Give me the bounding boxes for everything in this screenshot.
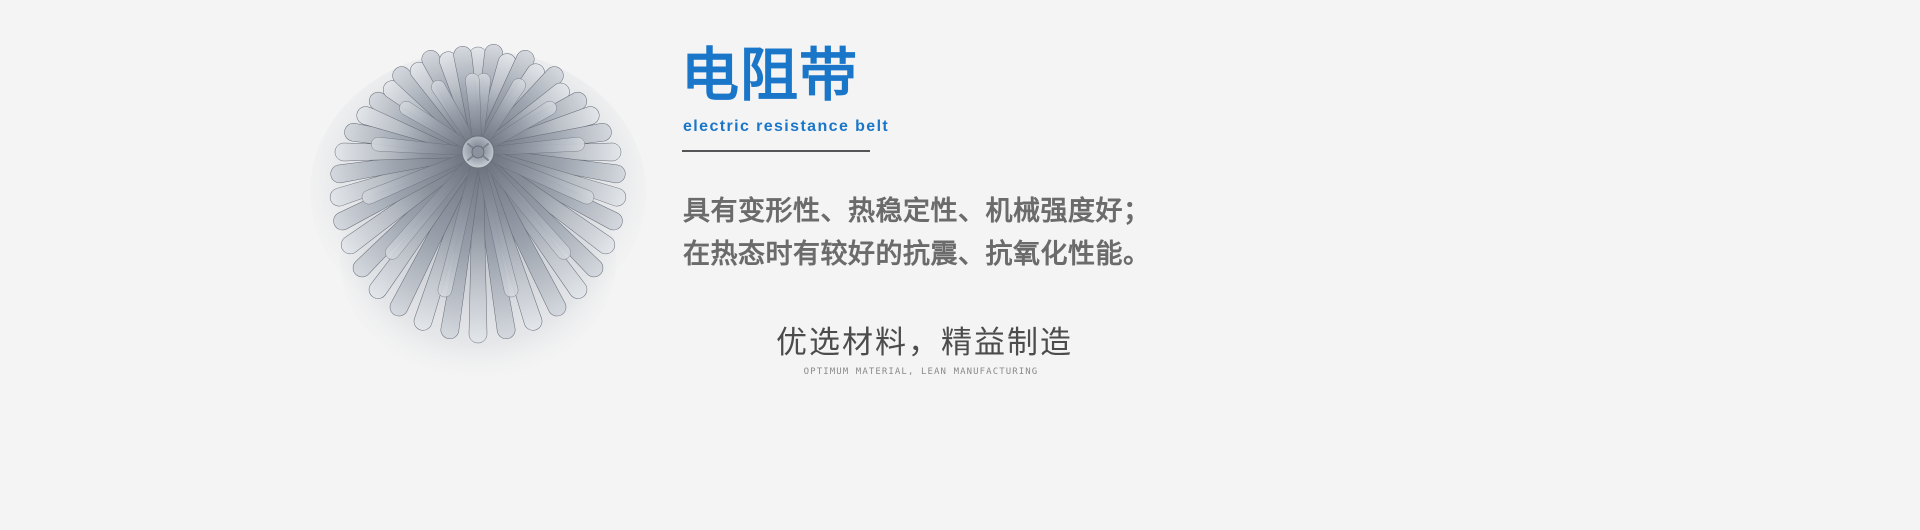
description-line-1: 具有变形性、热稳定性、机械强度好； [683, 190, 1243, 233]
tagline-chinese: 优选材料，精益制造 [776, 322, 1066, 364]
title-divider [682, 150, 870, 152]
product-image [296, 42, 660, 382]
tagline-english: OPTIMUM MATERIAL, LEAN MANUFACTURING [776, 366, 1066, 379]
text-column: 电阻带 electric resistance belt 具有变形性、热稳定性、… [681, 0, 1381, 530]
description-line-2: 在热态时有较好的抗震、抗氧化性能。 [683, 233, 1243, 276]
product-banner: 电阻带 electric resistance belt 具有变形性、热稳定性、… [0, 0, 1920, 530]
description-block: 具有变形性、热稳定性、机械强度好； 在热态时有较好的抗震、抗氧化性能。 [683, 190, 1243, 276]
page-subtitle: electric resistance belt [683, 117, 889, 137]
tagline-block: 优选材料，精益制造 OPTIMUM MATERIAL, LEAN MANUFAC… [776, 322, 1066, 379]
page-title: 电阻带 [681, 45, 858, 107]
burst-svg [296, 42, 660, 382]
resistance-belt-burst-illustration [296, 42, 660, 382]
